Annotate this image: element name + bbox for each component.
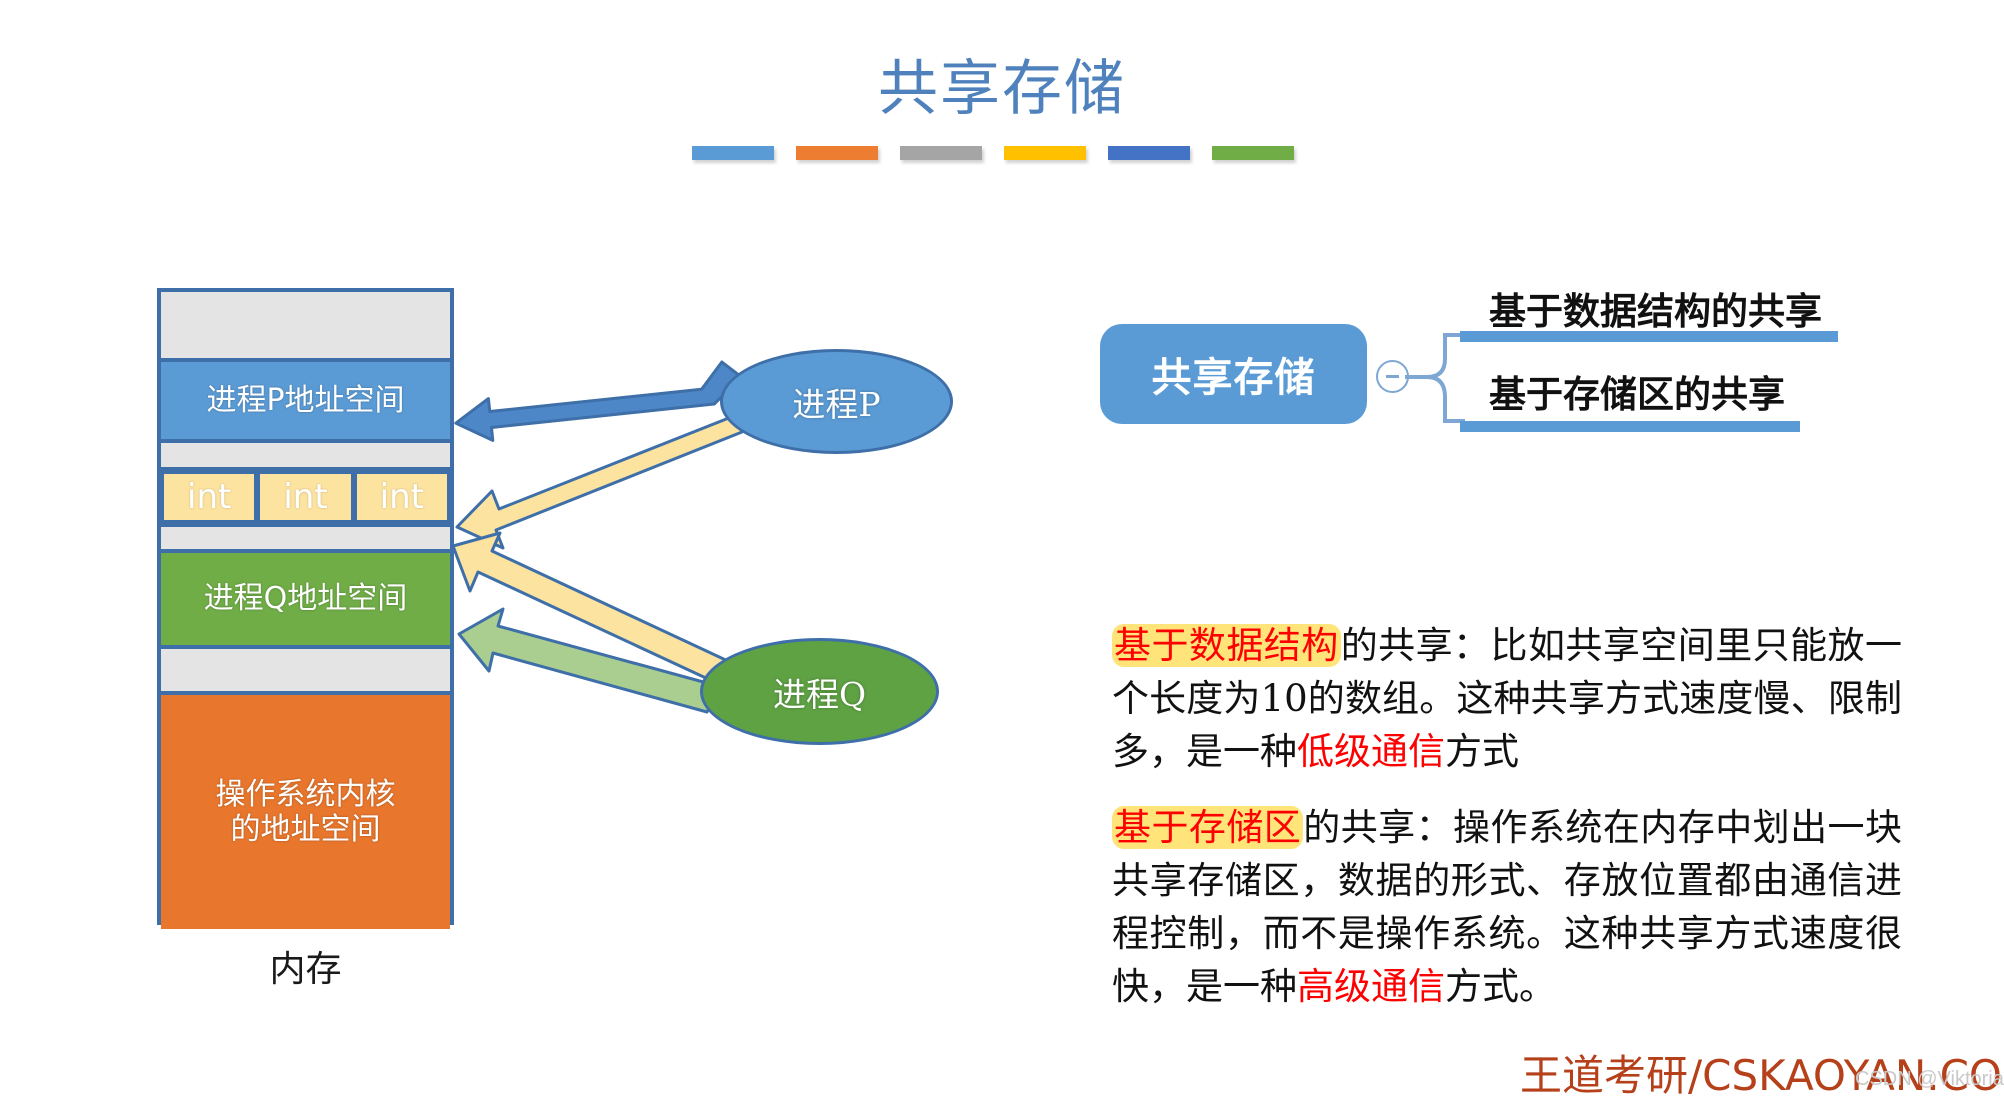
memory-block-free-2 [161, 527, 450, 549]
mindmap-branch-underline-0 [1460, 331, 1838, 342]
decor-bar-gray [900, 146, 982, 160]
memory-block-free-top [161, 292, 450, 358]
memory-block-os-kernel: 操作系统内核 的地址空间 [161, 691, 450, 929]
paragraph-0-highlight: 基于数据结构 [1112, 624, 1341, 667]
arrow-q-to-shared [453, 533, 730, 686]
memory-diagram-caption: 内存 [157, 940, 454, 992]
paragraph-data-structure-sharing: 基于数据结构的共享：比如共享空间里只能放一个长度为10的数组。这种共享方式速度慢… [1112, 620, 1902, 779]
int-cell-0: int [161, 471, 257, 523]
memory-block-process-q: 进程Q地址空间 [161, 549, 450, 649]
process-p-label: 进程P [792, 378, 880, 426]
memory-diagram: 进程P地址空间 int int int 进程Q地址空间 操作系统内核 的地址空间 [157, 288, 454, 925]
arrow-q-to-q-space [459, 609, 718, 712]
csdn-watermark: CSDN @Viktoriae [1855, 1068, 2004, 1091]
minus-glyph [1386, 375, 1399, 378]
process-q-label: 进程Q [773, 668, 866, 716]
mindmap-branch-underline-1 [1460, 421, 1800, 432]
page-title: 共享存储 [0, 40, 2004, 127]
decor-bar-dark-blue [1108, 146, 1190, 160]
memory-block-free-3 [161, 649, 450, 691]
memory-block-free-1 [161, 443, 450, 467]
paragraph-1-text-after: 方式。 [1445, 965, 1556, 1008]
paragraph-0-red-term: 低级通信 [1297, 730, 1445, 773]
process-q-node: 进程Q [700, 638, 939, 745]
os-kernel-line-2: 的地址空间 [231, 812, 381, 847]
mindmap-branch-label-0[interactable]: 基于数据结构的共享 [1489, 281, 1822, 335]
arrow-p-to-p-space [452, 360, 745, 444]
mindmap-branch-connector [1405, 315, 1465, 440]
memory-block-process-p-label: 进程P地址空间 [206, 383, 404, 418]
mindmap-root-node[interactable]: 共享存储 [1100, 324, 1367, 424]
paragraph-memory-region-sharing: 基于存储区的共享：操作系统在内存中划出一块共享存储区，数据的形式、存放位置都由通… [1112, 802, 1902, 1014]
decor-bar-orange [796, 146, 878, 160]
int-cell-2: int [354, 471, 450, 523]
mindmap-branch-label-1[interactable]: 基于存储区的共享 [1489, 364, 1785, 418]
decor-bar-blue [692, 146, 774, 160]
os-kernel-line-1: 操作系统内核 [216, 777, 396, 812]
paragraph-1-highlight: 基于存储区 [1112, 806, 1303, 849]
memory-block-process-p: 进程P地址空间 [161, 358, 450, 443]
process-p-node: 进程P [720, 349, 953, 454]
paragraph-0-text-after: 方式 [1445, 730, 1519, 773]
paragraph-1-red-term: 高级通信 [1297, 965, 1445, 1008]
slide-canvas: 共享存储 进程P地址空间 int int int 进程Q地址空间 [0, 0, 2004, 1118]
memory-block-process-q-label: 进程Q地址空间 [204, 581, 408, 616]
arrow-p-to-shared [457, 408, 744, 548]
decor-bar-green [1212, 146, 1294, 160]
decor-bar-yellow [1004, 146, 1086, 160]
mindmap-root-label: 共享存储 [1152, 345, 1316, 403]
decorative-bar-row [692, 146, 1294, 160]
memory-block-shared-ints: int int int [161, 467, 450, 527]
int-cell-1: int [257, 471, 353, 523]
